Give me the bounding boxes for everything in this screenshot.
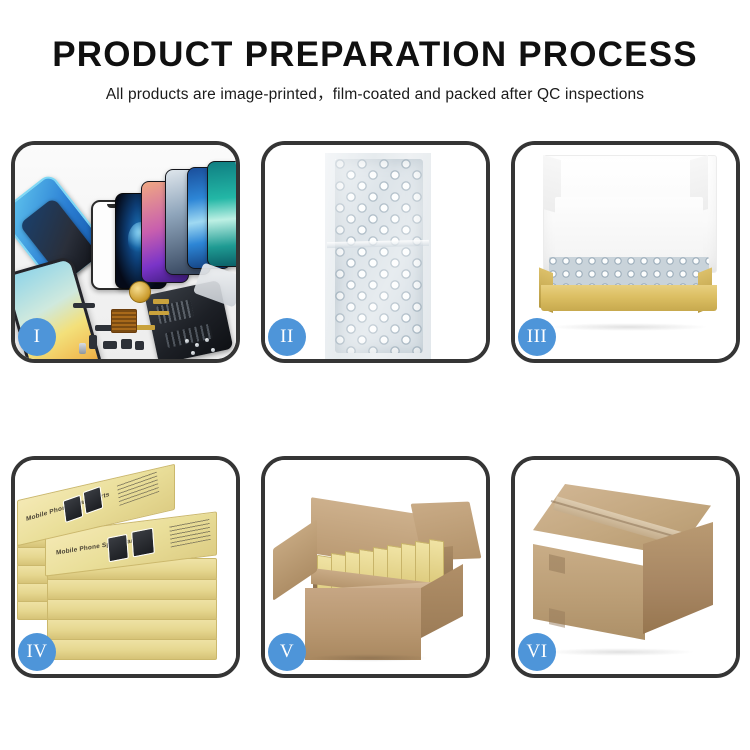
step-panel-6: VI (511, 456, 740, 678)
step-panel-5: V (261, 456, 490, 678)
bubble-wrap-icon (335, 159, 423, 353)
box-artwork-screen-icon (131, 528, 155, 558)
bubble-wrapped-product-icon (549, 257, 709, 287)
box-artwork-screen-icon (107, 534, 129, 563)
part-gold-connector-icon (153, 299, 169, 304)
retail-box-layer (47, 598, 217, 620)
part-camera-module-icon (103, 341, 117, 349)
ic-chip-icon (111, 309, 137, 333)
carton-tab-icon (549, 554, 565, 574)
part-sim-tray-icon (79, 343, 86, 354)
spare-parts-group (73, 285, 197, 359)
step-panel-3: III (511, 141, 740, 363)
part-flex-cable-icon (73, 303, 95, 308)
screw-icon (211, 348, 215, 352)
drop-shadow (309, 654, 429, 662)
screw-icon (191, 351, 195, 355)
box-spec-lines (117, 471, 159, 506)
retail-box-layer (47, 578, 217, 600)
retail-box-layer (47, 618, 217, 640)
foam-insert-icon (555, 197, 703, 259)
step-badge-5: V (268, 633, 306, 671)
screw-icon (195, 343, 199, 347)
retail-box-layer (47, 638, 217, 660)
step-badge-1: I (18, 318, 56, 356)
step-badge-6: VI (518, 633, 556, 671)
page-title: PRODUCT PREPARATION PROCESS (0, 34, 750, 76)
screws-group (183, 337, 217, 357)
drop-shadow (545, 648, 695, 656)
carton-front-panel-icon (305, 588, 421, 660)
page-subtitle: All products are image-printed，film-coat… (0, 84, 750, 106)
step-badge-3: III (518, 318, 556, 356)
box-artwork-screen-icon (83, 486, 104, 514)
step-badge-4: IV (18, 633, 56, 671)
drop-shadow (549, 323, 709, 331)
step-panel-1: I (11, 141, 240, 363)
part-power-button-flex-icon (149, 311, 169, 315)
step-badge-2: II (268, 318, 306, 356)
step-panel-4: Mobile Phone Spare Parts Mobile Phone Sp… (11, 456, 240, 678)
screw-icon (205, 338, 209, 342)
part-vibrator-icon (121, 339, 132, 349)
part-button-icon (135, 341, 144, 350)
teal-curved-phone-icon (207, 161, 236, 267)
box-front-panel-icon (541, 285, 717, 311)
box-artwork-screen-icon (63, 495, 84, 523)
box-spec-lines (169, 518, 210, 547)
carton-tab-icon (549, 608, 565, 628)
page-header: PRODUCT PREPARATION PROCESS All products… (0, 0, 750, 106)
taptic-coil-icon (129, 281, 151, 303)
screw-icon (185, 339, 189, 343)
process-steps-grid: I II (11, 141, 740, 678)
step-panel-2: II (261, 141, 490, 363)
part-bracket-icon (89, 335, 97, 349)
